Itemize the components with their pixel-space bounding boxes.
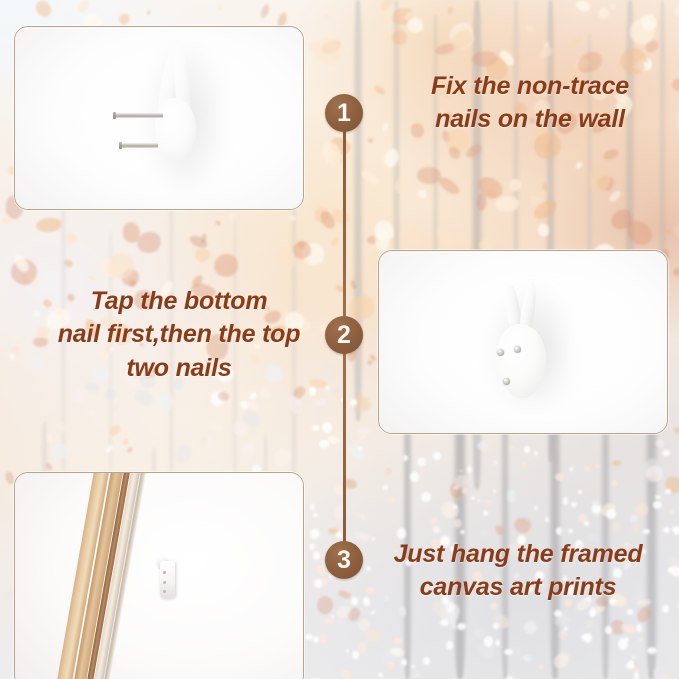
- blossom-speck: [312, 425, 319, 431]
- blossom-speck: [662, 605, 669, 613]
- blossom-speck: [387, 662, 395, 669]
- blossom-speck: [510, 446, 513, 449]
- wall-surface: [15, 473, 303, 679]
- foliage-dab: [242, 441, 255, 456]
- blossom-speck: [453, 485, 459, 490]
- foliage-dab: [495, 196, 520, 212]
- blossom-speck: [357, 642, 367, 653]
- foliage-dab: [208, 422, 225, 433]
- blossom-speck: [495, 640, 501, 646]
- foliage-dab: [447, 7, 453, 15]
- blossom-speck: [578, 490, 582, 494]
- foliage-dab: [233, 421, 248, 436]
- blossom-speck: [647, 647, 657, 654]
- wooden-frame-hanging-photo: [15, 473, 303, 679]
- foliage-dab: [359, 168, 381, 187]
- blossom-speck: [378, 673, 382, 677]
- blossom-speck: [493, 490, 496, 494]
- blossom-speck: [653, 501, 662, 509]
- blossom-speck: [665, 489, 671, 494]
- blossom-speck: [592, 505, 600, 513]
- blossom-speck: [632, 656, 636, 660]
- foliage-dab: [33, 0, 55, 20]
- blossom-speck: [358, 447, 362, 451]
- blossom-speck: [457, 623, 465, 630]
- foliage-dab: [480, 529, 488, 538]
- foliage-dab: [417, 189, 427, 198]
- blossom-speck: [325, 386, 330, 390]
- blossom-speck: [453, 505, 457, 510]
- foliage-dab: [86, 408, 94, 416]
- blossom-speck: [460, 530, 465, 534]
- foliage-dab: [666, 230, 671, 235]
- nail-head-top-right: [514, 346, 521, 353]
- blossom-speck: [446, 641, 454, 650]
- foliage-dab: [525, 24, 536, 34]
- blossom-speck: [564, 633, 568, 637]
- foliage-dab: [671, 266, 679, 277]
- blossom-speck: [401, 659, 407, 666]
- blossom-speck: [346, 649, 349, 653]
- blossom-speck: [517, 650, 520, 653]
- foliage-dab: [393, 178, 406, 194]
- foliage-dab: [349, 279, 357, 289]
- foliage-dab: [416, 457, 426, 467]
- foliage-dab: [675, 7, 679, 18]
- blossom-speck: [319, 440, 329, 448]
- foliage-dab: [259, 386, 272, 401]
- foliage-dab: [632, 523, 642, 533]
- blossom-speck: [322, 578, 328, 585]
- foliage-dab: [542, 183, 548, 190]
- blossom-speck: [309, 543, 315, 550]
- foliage-dab: [522, 618, 539, 635]
- blossom-speck: [384, 469, 391, 474]
- foliage-dab: [214, 220, 221, 226]
- foliage-dab: [391, 29, 408, 47]
- foliage-dab: [382, 147, 402, 170]
- foliage-dab: [313, 36, 342, 66]
- foliage-dab: [363, 628, 381, 643]
- foliage-dab: [537, 222, 552, 238]
- blossom-speck: [563, 497, 569, 504]
- step-2-photo-panel: [378, 250, 668, 434]
- blossom-speck: [352, 651, 359, 660]
- foliage-dab: [537, 46, 554, 61]
- foliage-dab: [596, 6, 611, 21]
- blossom-speck: [431, 517, 438, 524]
- blossom-speck: [467, 466, 472, 473]
- step-3-number-badge: 3: [325, 541, 363, 579]
- blossom-speck: [484, 636, 494, 647]
- blossom-speck: [420, 470, 424, 474]
- foliage-dab: [512, 516, 533, 536]
- blossom-speck: [433, 452, 441, 461]
- blossom-speck: [545, 517, 550, 522]
- hook-body: [155, 98, 197, 160]
- blossom-speck: [638, 637, 643, 642]
- blossom-speck: [606, 509, 616, 518]
- foliage-dab: [2, 217, 12, 224]
- foliage-dab: [574, 161, 582, 170]
- foliage-dab: [367, 137, 374, 144]
- foliage-dab: [551, 650, 572, 671]
- blossom-speck: [387, 496, 397, 505]
- blossom-speck: [534, 506, 538, 510]
- blossom-speck: [421, 492, 430, 503]
- blossom-speck: [317, 565, 326, 575]
- foliage-dab: [103, 387, 119, 403]
- blossom-speck: [669, 509, 675, 515]
- hook-nail-dot-1: [163, 571, 166, 574]
- foliage-dab: [436, 174, 461, 196]
- step-1-caption: Fix the non-trace nails on the wall: [384, 70, 676, 137]
- blossom-speck: [627, 609, 633, 615]
- foliage-dab: [118, 12, 132, 27]
- foliage-dab: [359, 513, 366, 521]
- blossom-speck: [324, 618, 334, 625]
- blossom-speck: [322, 422, 332, 433]
- blossom-speck: [555, 473, 564, 481]
- instruction-graphic: 1 2 3 Fix the non-trace nails on the wal…: [0, 0, 679, 679]
- foliage-dab: [612, 460, 621, 466]
- step-1-number-badge: 1: [325, 94, 363, 132]
- foliage-dab: [57, 422, 66, 433]
- foliage-dab: [644, 466, 663, 482]
- nail-upper: [114, 113, 163, 118]
- step-1-photo-panel: [14, 26, 304, 210]
- foliage-dab: [48, 440, 71, 463]
- blossom-speck: [504, 649, 512, 655]
- blossom-speck: [319, 634, 327, 643]
- blossom-speck: [589, 609, 596, 616]
- foliage-dab: [157, 390, 176, 410]
- blossom-speck: [482, 447, 486, 452]
- blossom-speck: [414, 672, 420, 677]
- blossom-speck: [403, 455, 408, 461]
- foliage-dab: [147, 10, 151, 16]
- blossom-speck: [383, 485, 387, 490]
- blossom-speck: [487, 500, 492, 505]
- blossom-speck: [483, 510, 488, 517]
- foliage-dab: [585, 619, 594, 629]
- blossom-speck: [336, 532, 342, 538]
- blossom-speck: [459, 470, 463, 473]
- blossom-speck: [393, 638, 402, 645]
- foliage-dab: [398, 606, 406, 617]
- blossom-speck: [506, 676, 513, 679]
- blossom-speck: [662, 450, 670, 456]
- blossom-speck: [423, 657, 430, 665]
- foliage-dab: [575, 0, 591, 12]
- foliage-dab: [634, 604, 654, 625]
- blossom-speck: [629, 660, 634, 664]
- blossom-speck: [341, 670, 351, 679]
- blossom-speck: [584, 466, 591, 471]
- blossom-speck: [410, 472, 418, 481]
- foliage-dab: [332, 501, 350, 522]
- blossom-speck: [351, 597, 357, 605]
- blossom-speck: [440, 619, 449, 626]
- foliage-dab: [109, 404, 119, 415]
- foliage-dab: [63, 259, 74, 269]
- foliage-dab: [329, 235, 340, 246]
- foliage-dab: [174, 443, 192, 464]
- blossom-speck: [471, 496, 475, 500]
- foliage-dab: [309, 12, 313, 18]
- step-3-caption: Just hang the framed canvas art prints: [364, 538, 672, 605]
- foliage-dab: [569, 35, 585, 47]
- blossom-speck: [564, 627, 568, 631]
- nail-head-upper: [113, 112, 116, 119]
- foliage-dab: [204, 436, 215, 450]
- blossom-speck: [350, 399, 357, 405]
- step-3-photo-panel: [14, 472, 304, 679]
- blossom-speck: [584, 633, 592, 643]
- bunny-hook-mounted-photo: [379, 251, 667, 433]
- blossom-speck: [584, 521, 589, 526]
- blossom-speck: [554, 610, 561, 618]
- blossom-speck: [411, 665, 415, 669]
- blossom-speck: [663, 527, 670, 533]
- blossom-speck: [556, 527, 563, 535]
- foliage-dab: [608, 190, 623, 205]
- blossom-speck: [313, 513, 317, 517]
- foliage-dab: [568, 466, 575, 473]
- foliage-dab: [105, 444, 114, 453]
- foliage-dab: [195, 247, 211, 262]
- blossom-speck: [534, 451, 539, 457]
- foliage-dab: [121, 438, 130, 447]
- foliage-dab: [611, 520, 622, 533]
- blossom-speck: [675, 530, 679, 534]
- blossom-speck: [493, 623, 499, 629]
- step-2-number-badge: 2: [325, 316, 363, 354]
- blossom-speck: [524, 446, 531, 452]
- blossom-speck: [494, 461, 497, 464]
- foliage-dab: [337, 589, 352, 600]
- foliage-dab: [217, 4, 222, 10]
- blossom-speck: [605, 626, 611, 634]
- hook-with-nails-profile-photo: [15, 27, 303, 209]
- foliage-dab: [403, 223, 426, 251]
- foliage-dab: [289, 214, 297, 221]
- blossom-speck: [477, 499, 480, 502]
- foliage-dab: [673, 426, 679, 435]
- nail-lower: [120, 143, 157, 148]
- blossom-speck: [305, 634, 313, 640]
- blossom-speck: [636, 624, 642, 632]
- foliage-dab: [323, 14, 329, 20]
- foliage-dab: [507, 490, 516, 504]
- foliage-dab: [35, 217, 62, 234]
- nail-head-lower: [119, 142, 122, 149]
- foliage-dab: [64, 231, 79, 246]
- blossom-speck: [625, 637, 630, 642]
- blossom-speck: [360, 619, 368, 627]
- blossom-speck: [627, 625, 636, 634]
- blossom-speck: [462, 487, 469, 494]
- foliage-dab: [369, 610, 375, 616]
- blossom-speck: [611, 480, 618, 487]
- foliage-dab: [672, 218, 679, 243]
- blossom-speck: [568, 529, 573, 533]
- foliage-dab: [348, 442, 369, 463]
- blossom-speck: [571, 502, 576, 506]
- blossom-speck: [539, 664, 543, 668]
- blossom-speck: [355, 512, 358, 516]
- foliage-dab: [435, 225, 460, 250]
- blossom-speck: [338, 393, 342, 397]
- foliage-dab: [132, 389, 154, 408]
- foliage-dab: [45, 432, 52, 443]
- foliage-dab: [628, 514, 639, 524]
- foliage-dab: [609, 2, 616, 9]
- foliage-dab: [313, 397, 327, 406]
- blossom-speck: [521, 462, 528, 469]
- foliage-dab: [108, 423, 122, 437]
- blossom-speck: [634, 672, 640, 679]
- hook-nail-dot-2: [163, 581, 166, 584]
- foliage-dab: [493, 524, 506, 538]
- foliage-dab: [506, 177, 523, 194]
- blossom-speck: [310, 529, 320, 539]
- foliage-dab: [317, 596, 334, 615]
- blossom-speck: [594, 464, 600, 468]
- foliage-dab: [602, 148, 620, 163]
- foliage-dab: [319, 360, 341, 381]
- foliage-dab: [452, 518, 462, 528]
- blossom-speck: [310, 504, 316, 510]
- foliage-dab: [228, 213, 238, 223]
- blossom-speck: [643, 529, 650, 535]
- foliage-dab: [654, 438, 665, 449]
- foliage-dab: [432, 525, 442, 535]
- blossom-speck: [655, 495, 661, 499]
- foliage-dab: [272, 447, 292, 469]
- foliage-dab: [45, 462, 54, 471]
- blossom-speck: [309, 387, 317, 396]
- foliage-dab: [211, 250, 242, 280]
- foliage-dab: [379, 0, 395, 13]
- foliage-dab: [522, 654, 532, 662]
- foliage-dab: [259, 3, 270, 18]
- foliage-dab: [126, 446, 133, 453]
- step-2-caption: Tap the bottom nail first,then the top t…: [36, 285, 322, 385]
- blossom-speck: [313, 551, 320, 561]
- foliage-dab: [87, 275, 95, 281]
